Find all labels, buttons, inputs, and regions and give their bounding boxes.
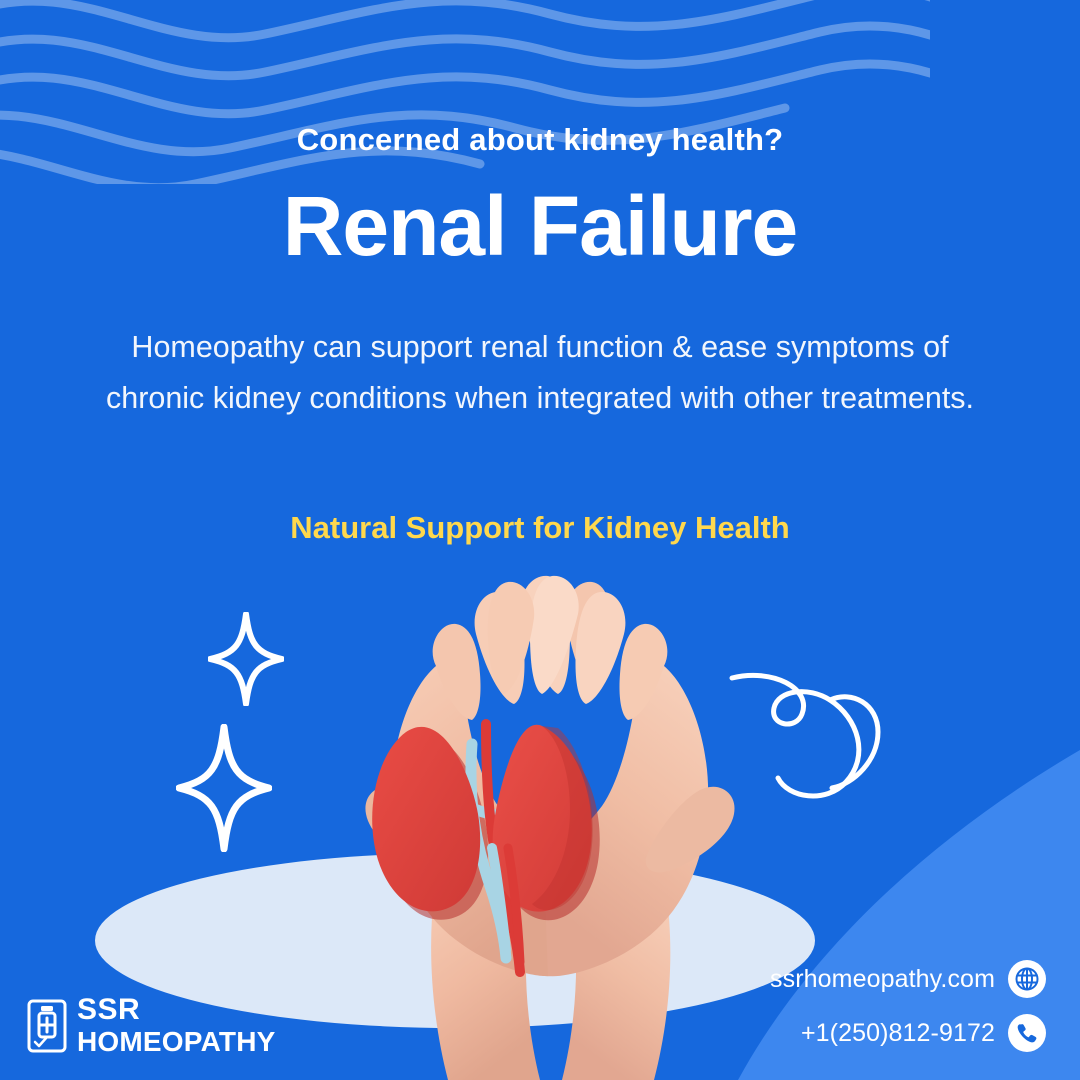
website-text: ssrhomeopathy.com [770,965,995,994]
brand-logo: SSR HOMEOPATHY [26,995,276,1056]
logo-line-2: HOMEOPATHY [77,1028,276,1056]
poster-canvas: Concerned about kidney health? Renal Fai… [0,0,1080,1080]
contact-block: ssrhomeopathy.com +1(250)812-9172 [716,960,1046,1052]
phone-text: +1(250)812-9172 [801,1019,995,1048]
page-title: Renal Failure [0,182,1080,270]
globe-icon[interactable] [1008,960,1046,998]
tagline: Natural Support for Kidney Health [0,510,1080,546]
headline-subtitle: Concerned about kidney health? [0,122,1080,158]
contact-website-row[interactable]: ssrhomeopathy.com [716,960,1046,998]
phone-icon[interactable] [1008,1014,1046,1052]
logo-line-1: SSR [77,995,276,1025]
body-copy: Homeopathy can support renal function & … [95,322,985,423]
medicine-bottle-icon [26,999,68,1053]
contact-phone-row[interactable]: +1(250)812-9172 [716,1014,1046,1052]
